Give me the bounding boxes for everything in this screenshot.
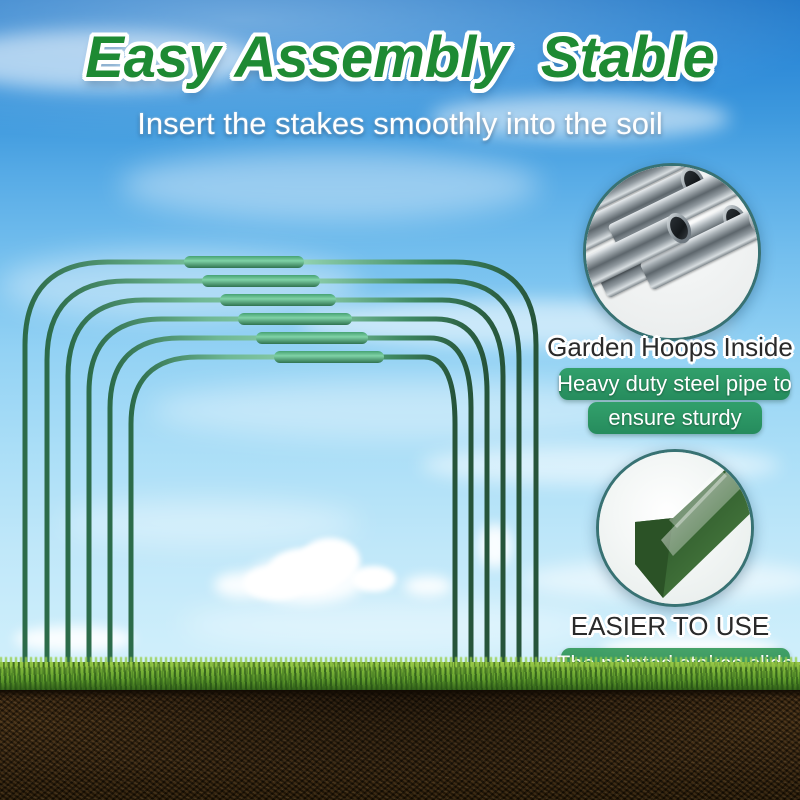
soil-layer bbox=[0, 690, 800, 800]
pointed-stake-tip-photo bbox=[596, 449, 754, 607]
connector-sleeves bbox=[184, 256, 384, 363]
callout-title-easier-to-use: EASIER TO USE bbox=[540, 611, 800, 642]
callout-badge-line-2: ensure sturdy bbox=[588, 402, 762, 434]
subheadline: Insert the stakes smoothly into the soil bbox=[0, 106, 800, 142]
callout-title-garden-hoops: Garden Hoops Inside bbox=[540, 332, 800, 363]
product-marketing-image: Easy Assembly Stable Insert the stakes s… bbox=[0, 0, 800, 800]
headline: Easy Assembly Stable bbox=[0, 24, 800, 91]
steel-pipes-photo bbox=[583, 163, 761, 341]
callout-badge-line-1: Heavy duty steel pipe to bbox=[559, 368, 790, 400]
